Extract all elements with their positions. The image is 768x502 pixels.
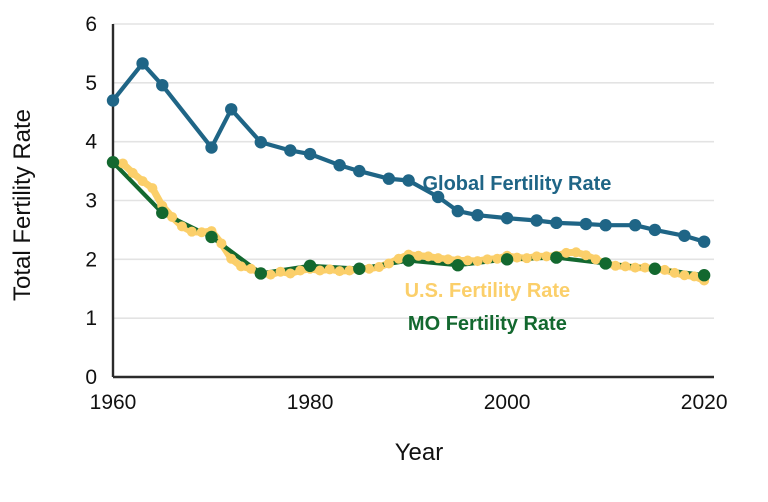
data-point-marker [599,219,611,231]
y-tick-label: 0 [85,366,97,389]
data-point-marker [187,227,197,237]
data-point-marker [226,254,236,264]
data-point-marker [236,261,246,271]
data-point-marker [128,168,138,178]
data-point-marker [216,238,226,248]
data-point-marker [266,270,276,280]
data-point-marker [550,251,562,263]
data-point-marker [394,254,404,264]
data-point-marker [649,224,661,236]
series-label: MO Fertility Rate [408,313,567,335]
data-point-marker [107,156,119,168]
gridlines [113,24,714,318]
data-point-marker [344,266,354,276]
data-point-marker [640,263,650,273]
chart-canvas: 0123456 1960198020002020 Global Fertilit… [0,0,768,502]
data-point-marker [304,148,316,160]
series-line [113,63,704,241]
data-point-marker [550,217,562,229]
data-point-marker [156,207,168,219]
x-tick-label: 1960 [90,391,137,414]
data-point-marker [118,158,128,168]
data-point-marker [138,176,148,186]
data-point-marker [452,259,464,271]
data-point-marker [561,248,571,258]
data-point-marker [599,257,611,269]
data-point-marker [610,261,620,271]
series-lines [113,63,704,280]
data-point-marker [698,235,710,247]
data-point-marker [364,264,374,274]
y-tick-label: 5 [85,72,97,95]
data-point-marker [156,79,168,91]
y-tick-label: 2 [85,248,97,271]
data-point-marker [433,253,443,263]
y-axis-tick-labels: 0123456 [85,13,97,389]
data-point-marker [660,265,670,275]
data-point-marker [530,214,542,226]
data-point-marker [571,247,581,257]
x-tick-label: 2000 [484,391,531,414]
data-point-marker [333,159,345,171]
data-point-marker [353,263,365,275]
y-axis-title: Total Fertility Rate [9,109,36,301]
data-point-marker [580,218,592,230]
data-point-marker [255,136,267,148]
data-point-marker [630,263,640,273]
data-point-marker [383,173,395,185]
data-point-marker [473,256,483,266]
data-point-marker [670,268,680,278]
data-point-marker [522,253,532,263]
data-point-marker [205,231,217,243]
data-point-marker [275,267,285,277]
data-point-marker [542,251,552,261]
data-point-marker [689,271,699,281]
fertility-rate-chart: 0123456 1960198020002020 Global Fertilit… [0,0,768,502]
data-point-marker [423,251,433,261]
x-tick-label: 2020 [681,391,728,414]
data-point-marker [591,254,601,264]
data-point-marker [205,141,217,153]
data-point-marker [177,221,187,231]
y-tick-label: 6 [85,13,97,36]
data-point-marker [147,183,157,193]
data-point-marker [197,227,207,237]
data-point-marker [443,254,453,264]
data-point-marker [413,251,423,261]
data-point-marker [452,205,464,217]
data-point-marker [492,254,502,264]
data-point-marker [225,103,237,115]
data-point-marker [325,264,335,274]
data-point-marker [304,260,316,272]
data-point-marker [402,174,414,186]
data-point-marker [620,261,630,271]
data-point-marker [255,267,267,279]
data-point-marker [698,269,710,281]
data-point-marker [353,165,365,177]
data-point-marker [374,262,384,272]
x-tick-label: 1980 [287,391,334,414]
x-axis-tick-labels: 1960198020002020 [90,391,728,414]
data-point-marker [384,258,394,268]
series-markers [107,57,711,285]
data-point-marker [463,256,473,266]
data-point-marker [482,254,492,264]
data-point-marker [335,266,345,276]
data-point-marker [501,212,513,224]
y-tick-label: 3 [85,190,97,213]
data-point-marker [471,209,483,221]
data-point-marker [315,266,325,276]
series-label: Global Fertility Rate [422,173,611,195]
data-point-marker [107,94,119,106]
y-tick-label: 1 [85,307,97,330]
data-point-marker [284,144,296,156]
data-point-marker [532,251,542,261]
data-point-marker [678,230,690,242]
data-point-marker [501,253,513,265]
data-point-marker [581,250,591,260]
series-label: U.S. Fertility Rate [405,280,571,302]
data-point-marker [629,219,641,231]
y-tick-label: 4 [85,131,97,154]
x-axis-title: Year [395,439,444,466]
data-point-marker [136,57,148,69]
data-point-marker [402,254,414,266]
data-point-marker [246,264,256,274]
data-point-marker [167,212,177,222]
data-point-marker [285,268,295,278]
data-point-marker [679,270,689,280]
data-point-marker [512,253,522,263]
data-point-marker [649,263,661,275]
data-point-marker [295,266,305,276]
